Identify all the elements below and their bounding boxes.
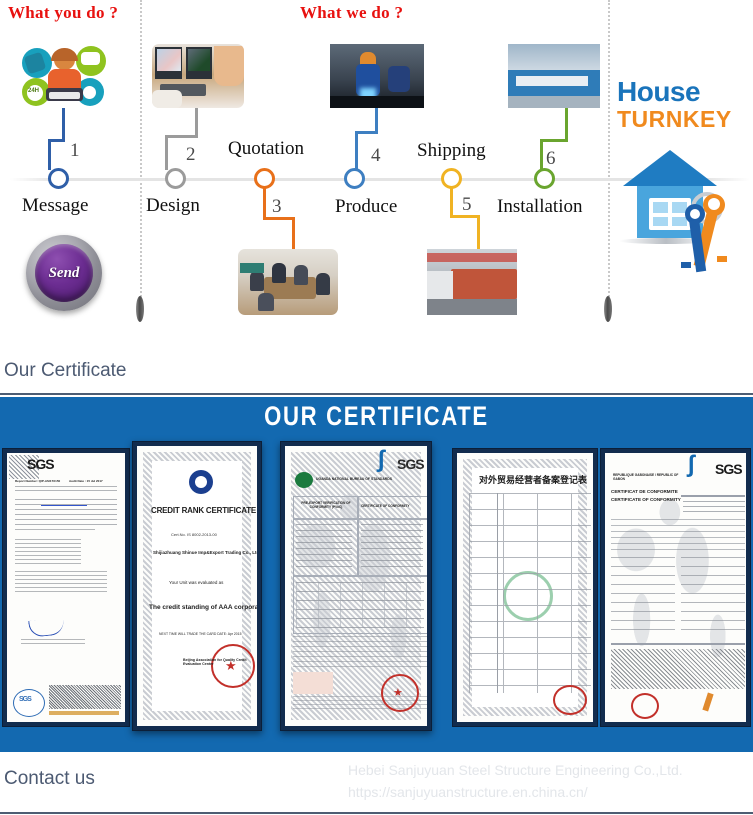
cert3-col-right: CERTIFICATE OF CONFORMITY [361, 504, 409, 508]
step-label-installation: Installation [497, 196, 582, 218]
step-number-5: 5 [462, 194, 472, 216]
design-workstation-photo [152, 44, 244, 108]
cert2-evaluated: Your Unit was evaluated as [169, 580, 223, 585]
contact-section: Contact us Hebei Sanjuyuan Steel Structu… [0, 752, 753, 815]
turnkey-word-turnkey: TURNKEY [617, 108, 747, 131]
cert1-report-number: Report Number: QIP-ASI17X150 [15, 479, 60, 483]
step-number-1: 1 [70, 140, 80, 162]
keys-icon [677, 188, 745, 280]
heading-what-we-do: What we do ? [300, 3, 403, 23]
certificate-gallery: OUR CERTIFICATE SGS Report Number: QIP-A… [0, 397, 753, 752]
our-certificate-title: Our Certificate [0, 352, 753, 382]
cert2-title: CREDIT RANK CERTIFICATE [151, 506, 256, 515]
heading-what-you-do: What you do ? [8, 3, 118, 23]
certificate-uganda-conformity[interactable]: ʃ SGS UGANDA NATIONAL BUREAU OF STANDARD… [280, 441, 432, 731]
cert2-credit-standing: The credit standing of AAA corporation [149, 604, 257, 611]
step-number-3: 3 [272, 196, 282, 218]
step-label-produce: Produce [335, 196, 397, 218]
send-button-label: Send [49, 265, 80, 282]
customer-service-icon: 24H [22, 42, 106, 108]
our-certificate-rule [0, 393, 753, 395]
turnkey-word-house: House [617, 78, 747, 106]
certificate-gabon-conformity[interactable]: ʃ SGS REPUBLIQUE GABONAISE / REPUBLIC OF… [600, 448, 751, 727]
cert4-title: 对外贸易经营者备案登记表 [479, 473, 587, 486]
timeline-node-3 [254, 168, 275, 189]
timeline-node-5 [441, 168, 462, 189]
watermark-url: https://sanjuyuanstructure.en.china.cn/ [348, 782, 683, 804]
cert3-sgs-logo: SGS [397, 456, 424, 472]
steel-warehouse-photo [508, 44, 600, 108]
timeline-node-2 [165, 168, 186, 189]
send-button-inner: Send [35, 244, 93, 302]
contact-rule [0, 812, 753, 814]
step-label-design: Design [146, 195, 200, 217]
watermark: Hebei Sanjuyuan Steel Structure Engineer… [348, 760, 683, 803]
cert5-title-fr: CERTIFICAT DE CONFORMITE [611, 489, 678, 494]
step-label-message: Message [22, 195, 88, 217]
step-number-4: 4 [371, 145, 381, 167]
cert5-sgs-logo: SGS [715, 461, 742, 477]
section-divider-right [608, 0, 610, 300]
cert5-issuer: REPUBLIQUE GABONAISE / REPUBLIC OF GABON [613, 473, 683, 481]
divider-pin-left [136, 296, 144, 322]
our-certificate-header: Our Certificate [0, 352, 753, 395]
timeline-node-6 [534, 168, 555, 189]
certificate-foreign-trade-registration[interactable]: 对外贸易经营者备案登记表 [452, 448, 598, 727]
cert5-title-en: CERTIFICATE OF CONFORMITY [611, 497, 681, 502]
contact-us-title: Contact us [4, 768, 95, 790]
send-button[interactable]: Send [26, 235, 102, 311]
cert3-issuer: UGANDA NATIONAL BUREAU OF STANDARDS [316, 477, 392, 481]
certificate-credit-rank[interactable]: CREDIT RANK CERTIFICATE Cert.No. IS 8002… [132, 441, 262, 731]
step-number-2: 2 [186, 144, 196, 166]
step-number-6: 6 [546, 148, 556, 170]
step-label-quotation: Quotation [228, 138, 304, 160]
step-label-shipping: Shipping [417, 140, 486, 162]
welding-production-photo [330, 44, 424, 108]
meeting-negotiation-photo [238, 249, 338, 315]
watermark-company: Hebei Sanjuyuan Steel Structure Engineer… [348, 760, 683, 782]
cert2-next-time: NEXT TIME WILL TRADE THE CARD DATE: Apr … [159, 632, 241, 636]
cert1-audit-date: Audit Date : 15 Jul 2017 [69, 479, 103, 483]
certificate-sgs-audit-report[interactable]: SGS Report Number: QIP-ASI17X150 Audit D… [2, 448, 130, 727]
certificate-banner-title: OUR CERTIFICATE [68, 401, 685, 432]
cert2-cert-no: Cert.No. IS 8002-2013-00 [171, 532, 217, 537]
timeline-node-1 [48, 168, 69, 189]
cert3-col-left: PRE-EXPORT VERIFICATION OF CONFORMITY (P… [296, 501, 356, 509]
loading-container-photo [427, 249, 517, 315]
process-diagram: What you do ? What we do ? 24H 1 Message… [0, 0, 753, 340]
divider-pin-right [604, 296, 612, 322]
cert2-company: Shijiazhuang Shinue Imp&Export Trading C… [153, 550, 257, 555]
timeline-node-4 [344, 168, 365, 189]
sgs-logo-text: SGS [27, 456, 54, 472]
cert2-association: Beijing Association for Quality Credit E… [183, 658, 257, 666]
house-turnkey-logo: House TURNKEY [617, 78, 747, 318]
section-divider-left [140, 0, 142, 300]
